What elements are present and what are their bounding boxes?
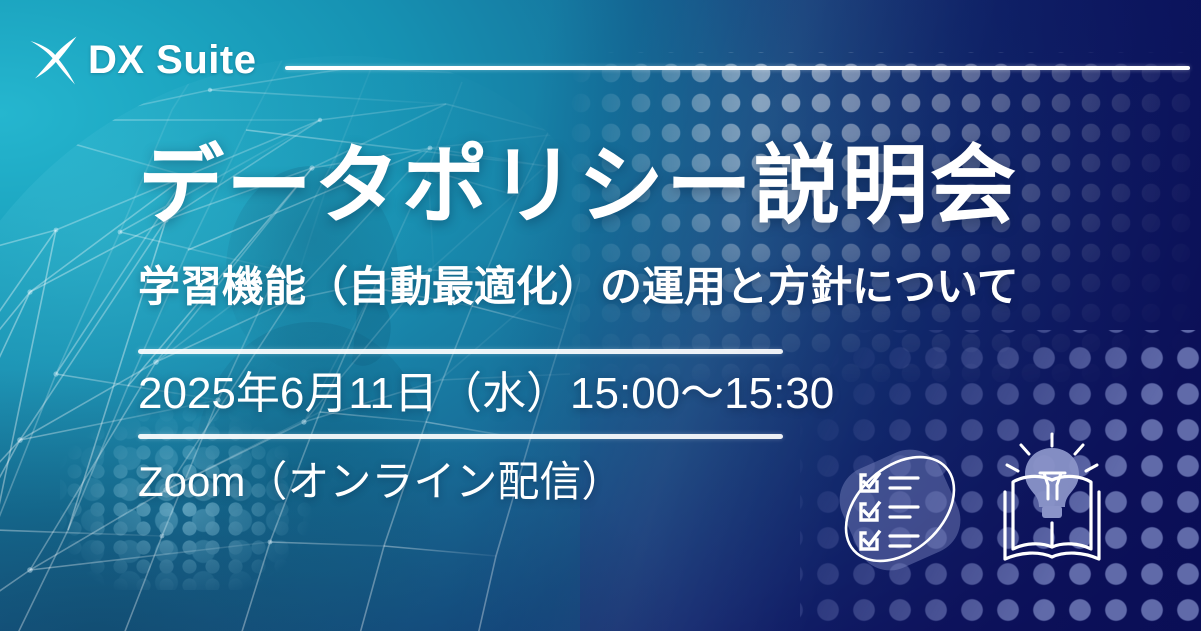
brand-name: DX Suite: [88, 40, 256, 80]
divider-below-date: [138, 434, 783, 439]
checklist-icon: [826, 434, 976, 584]
page-title: データポリシー説明会: [138, 143, 1018, 229]
webinar-banner: DX Suite データポリシー説明会 学習機能（自動最適化）の運用と方針につい…: [0, 0, 1201, 631]
dx-suite-x-mark-icon: [26, 33, 80, 87]
header-divider: [285, 66, 1190, 70]
page-subtitle: 学習機能（自動最適化）の運用と方針について: [138, 266, 1019, 308]
event-datetime: 2025年6月11日（水）15:00〜15:30: [138, 372, 834, 416]
divider-above-date: [138, 349, 783, 354]
lightbulb-open-book-icon: [985, 424, 1145, 584]
brand-logo: DX Suite: [26, 30, 1190, 90]
event-venue: Zoom（オンライン配信）: [138, 461, 623, 503]
